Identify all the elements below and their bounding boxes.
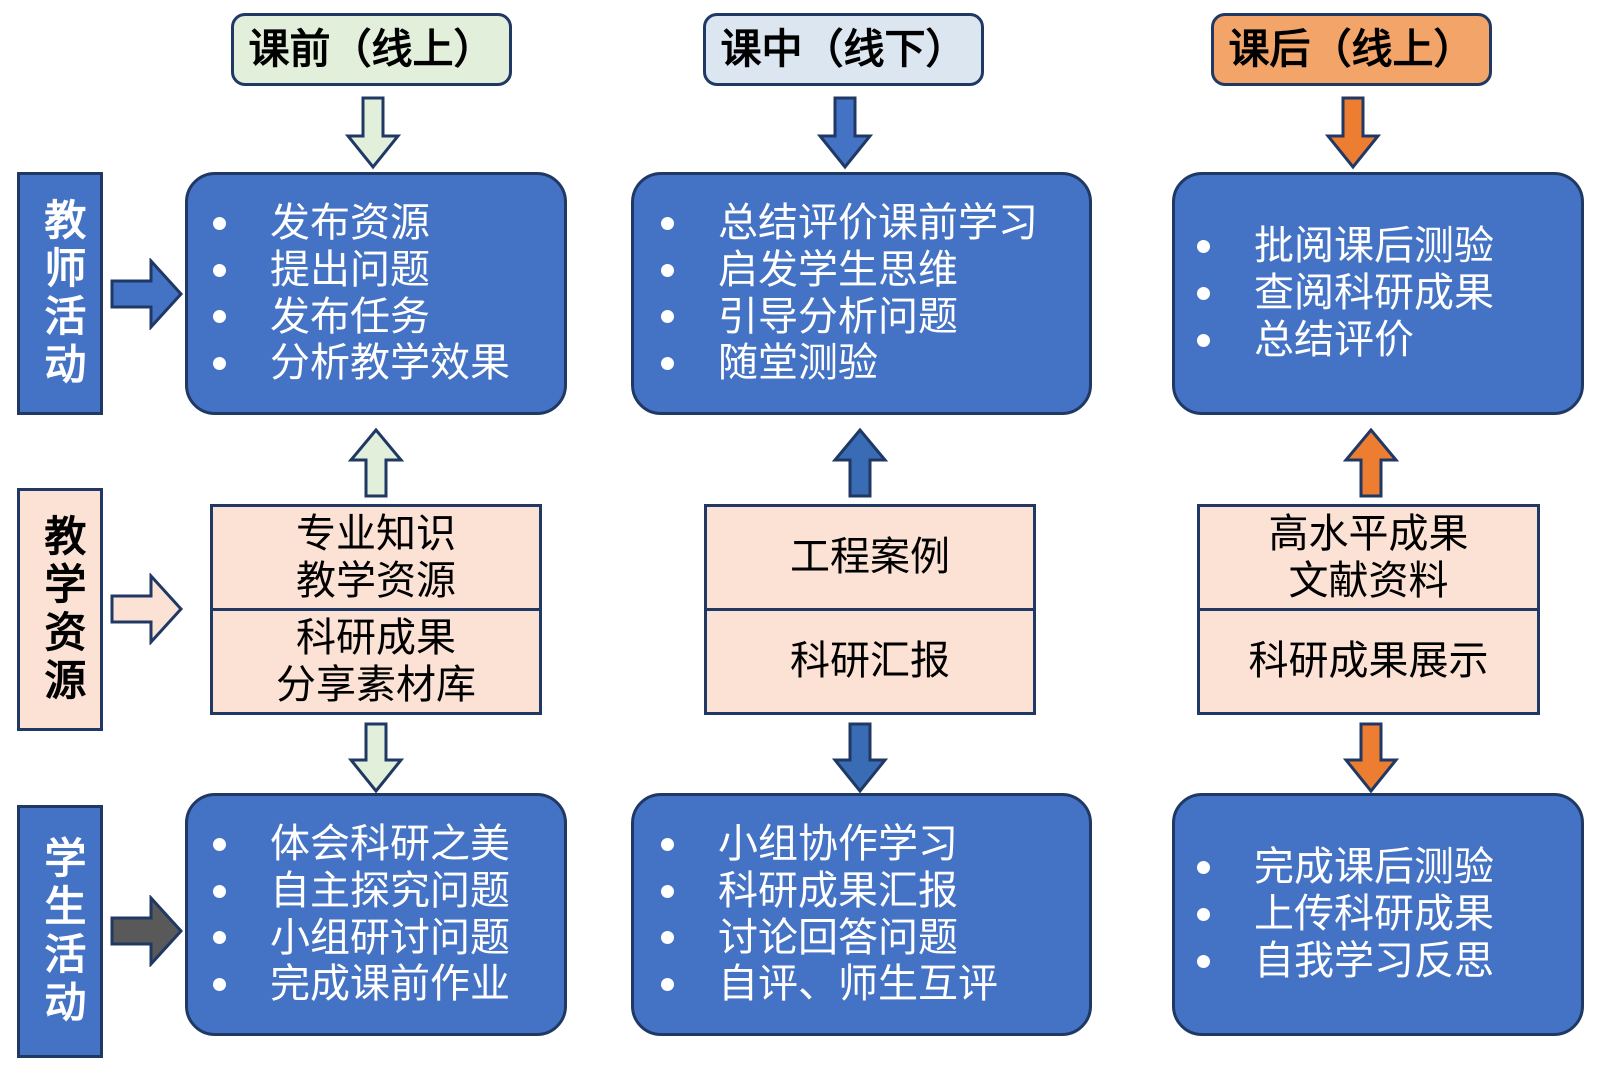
list-item: 完成课后测验 bbox=[1197, 844, 1494, 891]
student-activity-box-during[interactable]: 小组协作学习 科研成果汇报 讨论回答问题 自评、师生互评 bbox=[631, 793, 1092, 1036]
list-item-label: 启发学生思维 bbox=[718, 247, 958, 294]
teacher-activity-list-before: 发布资源 提出问题 发布任务 分析教学效果 bbox=[188, 200, 510, 387]
student-activity-list-during: 小组协作学习 科研成果汇报 讨论回答问题 自评、师生互评 bbox=[634, 821, 998, 1008]
list-item-label: 自我学习反思 bbox=[1254, 938, 1494, 985]
category-label-student-activity-text: 学生活动 bbox=[38, 836, 82, 1028]
list-item-label: 分析教学效果 bbox=[270, 340, 510, 387]
teacher-activity-box-after[interactable]: 批阅课后测验 查阅科研成果 总结评价 bbox=[1172, 172, 1584, 415]
list-item-label: 小组协作学习 bbox=[718, 821, 958, 868]
arrow-resource-category-right bbox=[110, 573, 184, 645]
bullet-icon bbox=[661, 931, 674, 944]
student-activity-list-after: 完成课后测验 上传科研成果 自我学习反思 bbox=[1175, 844, 1494, 984]
bullet-icon bbox=[213, 931, 226, 944]
list-item-label: 提出问题 bbox=[270, 247, 430, 294]
arrow-resource-to-teacher-during bbox=[832, 428, 888, 498]
bullet-icon bbox=[661, 838, 674, 851]
resource-box-during[interactable]: 工程案例 科研汇报 bbox=[704, 504, 1036, 715]
list-item-label: 批阅课后测验 bbox=[1254, 223, 1494, 270]
list-item: 查阅科研成果 bbox=[1197, 270, 1494, 317]
list-item-label: 完成课前作业 bbox=[270, 961, 510, 1008]
bullet-icon bbox=[1197, 955, 1210, 968]
resource-cell: 工程案例 bbox=[707, 507, 1033, 608]
arrow-resource-to-student-during bbox=[832, 722, 888, 794]
teacher-activity-box-during[interactable]: 总结评价课前学习 启发学生思维 引导分析问题 随堂测验 bbox=[631, 172, 1092, 415]
phase-header-during-label: 课中（线下） bbox=[721, 29, 967, 70]
list-item-label: 发布资源 bbox=[270, 200, 430, 247]
bullet-icon bbox=[661, 357, 674, 370]
list-item-label: 自评、师生互评 bbox=[718, 961, 998, 1008]
list-item: 分析教学效果 bbox=[213, 340, 510, 387]
diagram-canvas: 课前（线上） 课中（线下） 课后（线上） 教师活动 发布资源 提出问题 发布任务… bbox=[0, 0, 1600, 1077]
teacher-activity-list-after: 批阅课后测验 查阅科研成果 总结评价 bbox=[1175, 223, 1494, 363]
resource-cell: 科研成果 分享素材库 bbox=[213, 608, 539, 712]
bullet-icon bbox=[1197, 334, 1210, 347]
list-item: 批阅课后测验 bbox=[1197, 223, 1494, 270]
bullet-icon bbox=[213, 357, 226, 370]
list-item-label: 科研成果汇报 bbox=[718, 868, 958, 915]
list-item: 发布任务 bbox=[213, 294, 510, 341]
resource-box-before[interactable]: 专业知识 教学资源 科研成果 分享素材库 bbox=[210, 504, 542, 715]
list-item: 完成课前作业 bbox=[213, 961, 510, 1008]
arrow-resource-to-teacher-before bbox=[348, 428, 404, 498]
list-item-label: 完成课后测验 bbox=[1254, 844, 1494, 891]
list-item: 总结评价课前学习 bbox=[661, 200, 1038, 247]
list-item-label: 讨论回答问题 bbox=[718, 915, 958, 962]
list-item: 自我学习反思 bbox=[1197, 938, 1494, 985]
bullet-icon bbox=[213, 885, 226, 898]
list-item-label: 发布任务 bbox=[270, 294, 430, 341]
phase-header-after[interactable]: 课后（线上） bbox=[1211, 13, 1492, 86]
list-item: 自评、师生互评 bbox=[661, 961, 998, 1008]
list-item: 讨论回答问题 bbox=[661, 915, 998, 962]
student-activity-box-before[interactable]: 体会科研之美 自主探究问题 小组研讨问题 完成课前作业 bbox=[185, 793, 567, 1036]
list-item: 科研成果汇报 bbox=[661, 868, 998, 915]
list-item: 自主探究问题 bbox=[213, 868, 510, 915]
list-item-label: 小组研讨问题 bbox=[270, 915, 510, 962]
arrow-resource-to-teacher-after bbox=[1343, 428, 1399, 498]
phase-header-during[interactable]: 课中（线下） bbox=[703, 13, 984, 86]
category-label-student-activity[interactable]: 学生活动 bbox=[17, 805, 103, 1058]
list-item: 发布资源 bbox=[213, 200, 510, 247]
bullet-icon bbox=[1197, 908, 1210, 921]
list-item-label: 总结评价 bbox=[1254, 317, 1414, 364]
arrow-phase-to-teacher-before bbox=[345, 96, 401, 170]
resource-cell: 专业知识 教学资源 bbox=[213, 507, 539, 608]
arrow-resource-to-student-before bbox=[348, 722, 404, 794]
list-item: 体会科研之美 bbox=[213, 821, 510, 868]
list-item: 提出问题 bbox=[213, 247, 510, 294]
teacher-activity-list-during: 总结评价课前学习 启发学生思维 引导分析问题 随堂测验 bbox=[634, 200, 1038, 387]
bullet-icon bbox=[213, 217, 226, 230]
arrow-resource-to-student-after bbox=[1343, 722, 1399, 794]
list-item: 引导分析问题 bbox=[661, 294, 1038, 341]
list-item-label: 引导分析问题 bbox=[718, 294, 958, 341]
category-label-teaching-resource[interactable]: 教学资源 bbox=[17, 488, 103, 731]
list-item-label: 总结评价课前学习 bbox=[718, 200, 1038, 247]
resource-box-after[interactable]: 高水平成果 文献资料 科研成果展示 bbox=[1197, 504, 1540, 715]
list-item: 随堂测验 bbox=[661, 340, 1038, 387]
bullet-icon bbox=[213, 978, 226, 991]
list-item-label: 查阅科研成果 bbox=[1254, 270, 1494, 317]
arrow-student-category-right bbox=[110, 895, 184, 967]
category-label-teacher-activity[interactable]: 教师活动 bbox=[17, 172, 103, 415]
resource-cell: 科研汇报 bbox=[707, 608, 1033, 712]
list-item-label: 随堂测验 bbox=[718, 340, 878, 387]
list-item: 启发学生思维 bbox=[661, 247, 1038, 294]
bullet-icon bbox=[661, 310, 674, 323]
bullet-icon bbox=[661, 264, 674, 277]
phase-header-after-label: 课后（线上） bbox=[1229, 29, 1475, 70]
bullet-icon bbox=[213, 838, 226, 851]
resource-cell: 科研成果展示 bbox=[1200, 608, 1537, 712]
arrow-phase-to-teacher-after bbox=[1325, 96, 1381, 170]
list-item: 上传科研成果 bbox=[1197, 891, 1494, 938]
bullet-icon bbox=[661, 978, 674, 991]
list-item: 小组协作学习 bbox=[661, 821, 998, 868]
bullet-icon bbox=[1197, 287, 1210, 300]
category-label-teaching-resource-text: 教学资源 bbox=[38, 514, 82, 706]
list-item-label: 上传科研成果 bbox=[1254, 891, 1494, 938]
student-activity-box-after[interactable]: 完成课后测验 上传科研成果 自我学习反思 bbox=[1172, 793, 1584, 1036]
bullet-icon bbox=[661, 217, 674, 230]
bullet-icon bbox=[661, 885, 674, 898]
list-item: 总结评价 bbox=[1197, 317, 1494, 364]
list-item-label: 体会科研之美 bbox=[270, 821, 510, 868]
student-activity-list-before: 体会科研之美 自主探究问题 小组研讨问题 完成课前作业 bbox=[188, 821, 510, 1008]
phase-header-before[interactable]: 课前（线上） bbox=[231, 13, 512, 86]
bullet-icon bbox=[1197, 240, 1210, 253]
list-item: 小组研讨问题 bbox=[213, 915, 510, 962]
phase-header-before-label: 课前（线上） bbox=[249, 29, 495, 70]
arrow-teacher-category-right bbox=[110, 258, 184, 330]
bullet-icon bbox=[213, 264, 226, 277]
list-item-label: 自主探究问题 bbox=[270, 868, 510, 915]
bullet-icon bbox=[213, 310, 226, 323]
bullet-icon bbox=[1197, 861, 1210, 874]
arrow-phase-to-teacher-during bbox=[817, 96, 873, 170]
teacher-activity-box-before[interactable]: 发布资源 提出问题 发布任务 分析教学效果 bbox=[185, 172, 567, 415]
category-label-teacher-activity-text: 教师活动 bbox=[38, 198, 82, 390]
resource-cell: 高水平成果 文献资料 bbox=[1200, 507, 1537, 608]
